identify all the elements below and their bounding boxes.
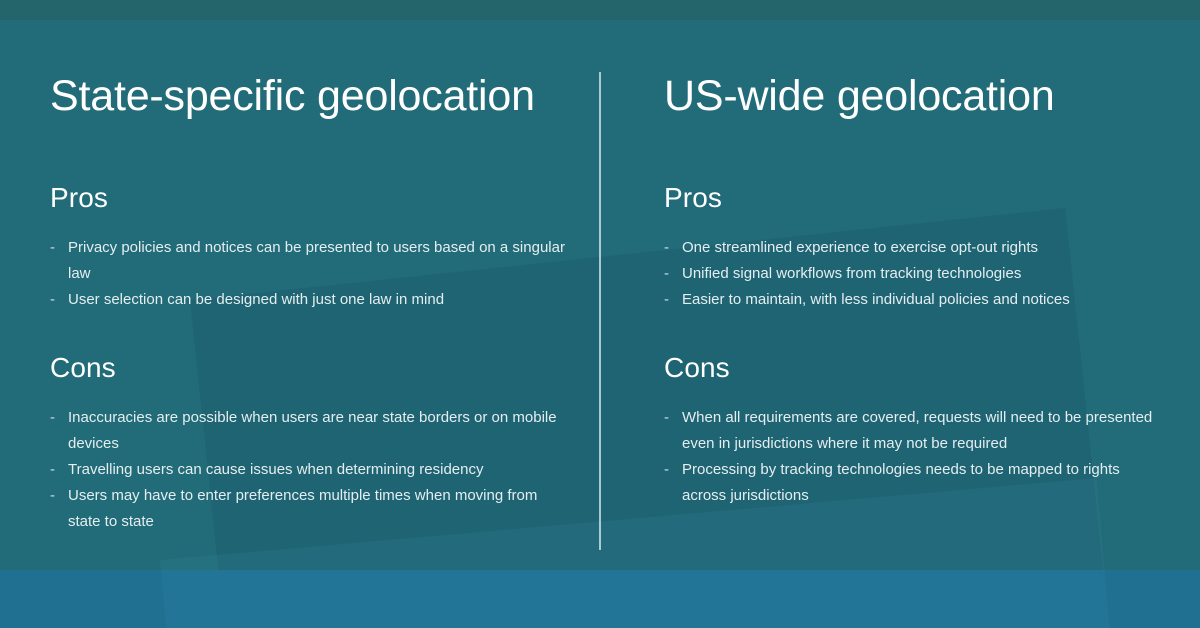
bullet-list-cons-left: - Inaccuracies are possible when users a… [50, 405, 570, 535]
dash-bullet-icon: - [664, 287, 682, 313]
list-item: - User selection can be designed with ju… [50, 287, 570, 313]
section-heading-cons-right: Cons [664, 350, 1154, 385]
column-title-right: US-wide geolocation [664, 72, 1055, 121]
section-heading-pros-left: Pros [50, 180, 570, 215]
list-item: - Inaccuracies are possible when users a… [50, 405, 570, 457]
section-pros-left: Pros - Privacy policies and notices can … [50, 180, 570, 313]
list-item: - Unified signal workflows from tracking… [664, 261, 1154, 287]
column-divider [599, 72, 601, 550]
bullet-list-pros-left: - Privacy policies and notices can be pr… [50, 235, 570, 313]
list-item: - When all requirements are covered, req… [664, 405, 1154, 457]
list-item: - Easier to maintain, with less individu… [664, 287, 1154, 313]
bullet-list-pros-right: - One streamlined experience to exercise… [664, 235, 1154, 313]
dash-bullet-icon: - [664, 405, 682, 431]
list-item: - One streamlined experience to exercise… [664, 235, 1154, 261]
section-heading-pros-right: Pros [664, 180, 1154, 215]
bullet-list-cons-right: - When all requirements are covered, req… [664, 405, 1154, 509]
dash-bullet-icon: - [50, 457, 68, 483]
list-item-text: One streamlined experience to exercise o… [682, 235, 1154, 261]
list-item-text: User selection can be designed with just… [68, 287, 570, 313]
list-item: - Users may have to enter preferences mu… [50, 483, 570, 535]
list-item-text: When all requirements are covered, reque… [682, 405, 1154, 457]
list-item: - Processing by tracking technologies ne… [664, 457, 1154, 509]
list-item: - Travelling users can cause issues when… [50, 457, 570, 483]
list-item-text: Privacy policies and notices can be pres… [68, 235, 570, 287]
section-pros-right: Pros - One streamlined experience to exe… [664, 180, 1154, 313]
section-heading-cons-left: Cons [50, 350, 570, 385]
list-item: - Privacy policies and notices can be pr… [50, 235, 570, 287]
list-item-text: Travelling users can cause issues when d… [68, 457, 570, 483]
dash-bullet-icon: - [664, 261, 682, 287]
section-cons-left: Cons - Inaccuracies are possible when us… [50, 350, 570, 535]
column-state-specific: State-specific geolocation Pros - Privac… [50, 0, 570, 628]
section-cons-right: Cons - When all requirements are covered… [664, 350, 1154, 509]
list-item-text: Users may have to enter preferences mult… [68, 483, 570, 535]
dash-bullet-icon: - [50, 483, 68, 509]
dash-bullet-icon: - [50, 287, 68, 313]
slide-content: State-specific geolocation Pros - Privac… [0, 0, 1200, 628]
column-title-left: State-specific geolocation [50, 72, 535, 121]
dash-bullet-icon: - [50, 405, 68, 431]
list-item-text: Processing by tracking technologies need… [682, 457, 1154, 509]
dash-bullet-icon: - [50, 235, 68, 261]
list-item-text: Easier to maintain, with less individual… [682, 287, 1154, 313]
column-us-wide: US-wide geolocation Pros - One streamlin… [664, 0, 1154, 628]
list-item-text: Unified signal workflows from tracking t… [682, 261, 1154, 287]
dash-bullet-icon: - [664, 457, 682, 483]
list-item-text: Inaccuracies are possible when users are… [68, 405, 570, 457]
dash-bullet-icon: - [664, 235, 682, 261]
